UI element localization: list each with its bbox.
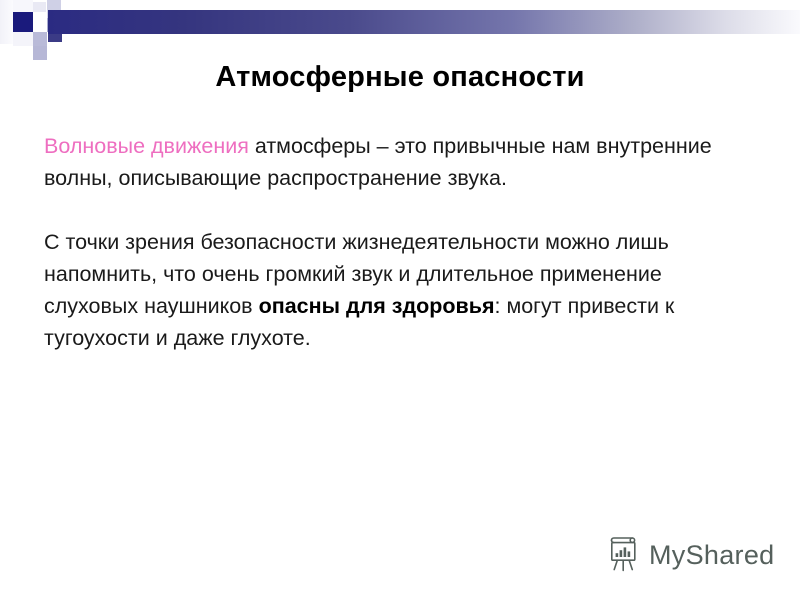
paragraph-wave-motion: Волновые движения атмосферы – это привыч…: [44, 130, 760, 194]
decor-square-navy: [13, 12, 33, 32]
decor-square-light-lower: [13, 32, 33, 46]
safety-note-emphasis: опасны для здоровья: [259, 294, 495, 318]
myshared-wordmark: MyShared: [649, 542, 774, 569]
header-bar-cap: [48, 34, 62, 42]
decor-square-mid-bottom: [33, 46, 47, 60]
decor-square-pale-top: [33, 2, 46, 12]
decor-square-mid-lower: [33, 32, 47, 46]
accent-term-wave-motion: Волновые движения: [44, 134, 249, 158]
presentation-chart-icon: [606, 536, 642, 574]
paragraph-safety-note: С точки зрения безопасности жизнедеятель…: [44, 226, 760, 354]
header-gradient-bar: [48, 10, 800, 34]
slide-canvas: Атмосферные опасности Волновые движения …: [0, 0, 800, 600]
slide-body: Волновые движения атмосферы – это привыч…: [44, 108, 760, 375]
slide-title: Атмосферные опасности: [0, 61, 800, 94]
decor-square-pale-left: [0, 0, 13, 44]
decor-square-light-top: [13, 0, 33, 12]
myshared-watermark: MyShared: [606, 536, 774, 574]
